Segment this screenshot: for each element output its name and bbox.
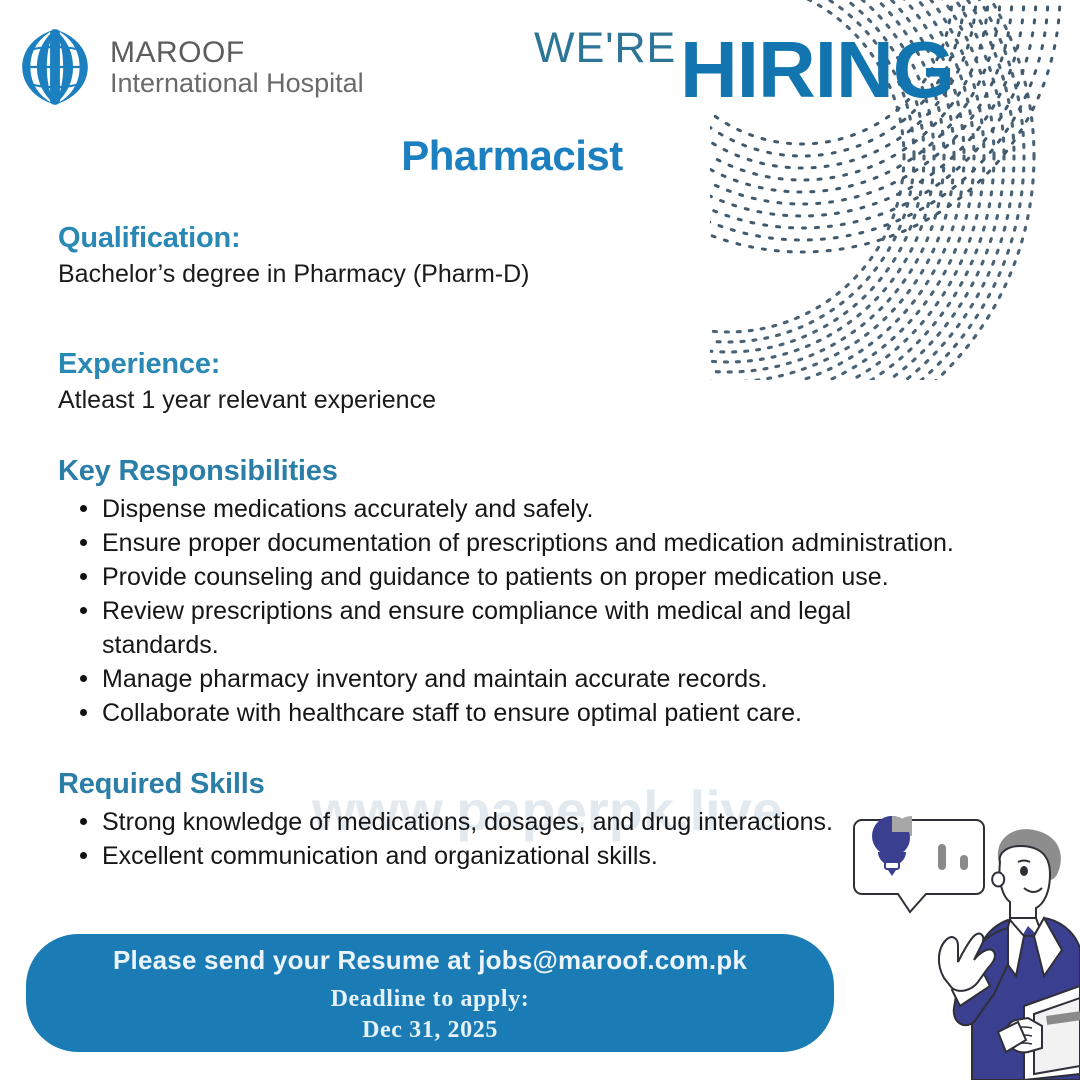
- list-item: Dispense medications accurately and safe…: [102, 492, 958, 526]
- qualification-section: Qualification: Bachelor’s degree in Phar…: [58, 222, 958, 290]
- list-item: Review prescriptions and ensure complian…: [102, 594, 958, 662]
- list-item: Provide counseling and guidance to patie…: [102, 560, 958, 594]
- job-details: Qualification: Bachelor’s degree in Phar…: [58, 222, 958, 874]
- list-item: Strong knowledge of medications, dosages…: [102, 805, 958, 840]
- speech-bubble-icon: [854, 816, 984, 912]
- list-item: Manage pharmacy inventory and maintain a…: [102, 662, 958, 696]
- spacer: [58, 417, 958, 455]
- qualification-text: Bachelor’s degree in Pharmacy (Pharm-D): [58, 259, 958, 290]
- experience-section: Experience: Atleast 1 year relevant expe…: [58, 348, 958, 416]
- page-title: Pharmacist: [0, 132, 1024, 180]
- person-with-speech-bubble-illustration: [848, 808, 1080, 1080]
- skills-list: Strong knowledge of medications, dosages…: [58, 805, 958, 874]
- list-item: Ensure proper documentation of prescript…: [102, 526, 958, 560]
- spacer: [58, 730, 958, 768]
- skills-heading: Required Skills: [58, 768, 958, 801]
- brand-name: MAROOF: [110, 37, 364, 69]
- skills-section: Required Skills Strong knowledge of medi…: [58, 768, 958, 874]
- deadline-label: Deadline to apply:: [331, 986, 530, 1013]
- brand-logo: MAROOF International Hospital: [14, 26, 364, 108]
- experience-heading: Experience:: [58, 348, 958, 381]
- hiring-label: HIRING: [680, 30, 954, 110]
- qualification-heading: Qualification:: [58, 222, 958, 255]
- experience-text: Atleast 1 year relevant experience: [58, 385, 958, 416]
- spacer: [58, 290, 958, 348]
- deadline-date: Dec 31, 2025: [362, 1017, 498, 1044]
- globe-icon: [14, 26, 96, 108]
- resume-email-line: Please send your Resume at jobs@maroof.c…: [113, 945, 747, 976]
- brand-subtitle: International Hospital: [110, 69, 364, 97]
- responsibilities-section: Key Responsibilities Dispense medication…: [58, 455, 958, 730]
- hiring-header: WE'RE HIRING: [520, 12, 1020, 122]
- list-item: Collaborate with healthcare staff to ens…: [102, 696, 958, 730]
- apply-cta-banner[interactable]: Please send your Resume at jobs@maroof.c…: [26, 934, 834, 1052]
- list-item: Excellent communication and organization…: [102, 839, 958, 874]
- responsibilities-list: Dispense medications accurately and safe…: [58, 492, 958, 730]
- responsibilities-heading: Key Responsibilities: [58, 455, 958, 488]
- were-label: WE'RE: [534, 24, 676, 73]
